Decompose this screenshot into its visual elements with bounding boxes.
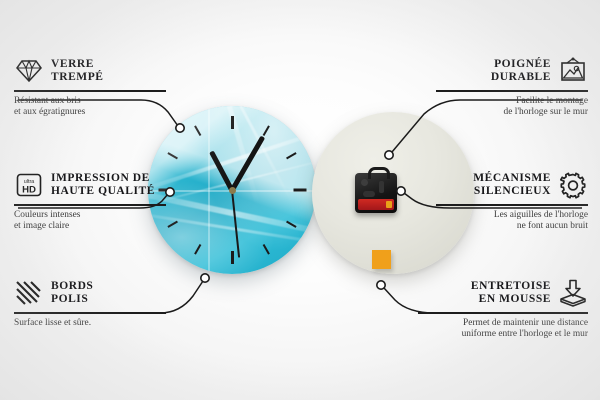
connector-endpoint-verre	[176, 124, 184, 132]
callout-impression-haute-qualite[interactable]: ultra HD IMPRESSION DEHAUTE QUALITÉ Coul…	[14, 170, 166, 233]
svg-text:HD: HD	[22, 185, 36, 196]
callout-rule	[418, 312, 588, 314]
callout-mecanisme-silencieux[interactable]: MÉCANISMESILENCIEUX Les aiguilles de l'h…	[436, 170, 588, 233]
gear-icon	[558, 170, 588, 200]
connector-endpoint-poignee	[385, 151, 393, 159]
connector-endpoint-bords	[201, 274, 209, 282]
callout-rule	[14, 204, 166, 206]
callout-title: ENTRETOISEEN MOUSSE	[471, 280, 551, 307]
callout-title: IMPRESSION DEHAUTE QUALITÉ	[51, 172, 155, 199]
callout-description: Permet de maintenir une distanceuniforme…	[418, 318, 588, 341]
connector-endpoint-entretoise	[377, 281, 385, 289]
connector-endpoint-impression	[166, 188, 174, 196]
connector-endpoint-mecanisme	[397, 187, 405, 195]
callout-bords-polis[interactable]: BORDSPOLIS Surface lisse et sûre.	[14, 278, 166, 329]
callout-title: VERRETREMPÉ	[51, 58, 104, 85]
callout-header: MÉCANISMESILENCIEUX	[436, 170, 588, 200]
callout-rule	[14, 90, 166, 92]
callout-title: POIGNÉEDURABLE	[491, 58, 551, 85]
callout-rule	[14, 312, 166, 314]
infographic-canvas: VERRETREMPÉ Résistant aux briset aux égr…	[0, 0, 600, 400]
ultra-hd-icon: ultra HD	[14, 170, 44, 200]
callout-description: Surface lisse et sûre.	[14, 318, 166, 330]
diagonal-lines-icon	[14, 278, 44, 308]
callout-entretoise-en-mousse[interactable]: ENTRETOISEEN MOUSSE Permet de maintenir …	[418, 278, 588, 341]
callout-title: BORDSPOLIS	[51, 280, 93, 307]
hanging-picture-icon	[558, 56, 588, 86]
callout-title: MÉCANISMESILENCIEUX	[473, 172, 551, 199]
callout-header: POIGNÉEDURABLE	[436, 56, 588, 86]
arrow-down-foam-icon	[558, 278, 588, 308]
callout-poignee-durable[interactable]: POIGNÉEDURABLE Facilite le montagede l'h…	[436, 56, 588, 119]
callout-rule	[436, 90, 588, 92]
callout-description: Les aiguilles de l'horlogene font aucun …	[436, 210, 588, 233]
callout-header: BORDSPOLIS	[14, 278, 166, 308]
callout-rule	[436, 204, 588, 206]
callout-description: Couleurs intenseset image claire	[14, 210, 166, 233]
callout-header: ultra HD IMPRESSION DEHAUTE QUALITÉ	[14, 170, 166, 200]
callout-description: Facilite le montagede l'horloge sur le m…	[436, 96, 588, 119]
callout-header: ENTRETOISEEN MOUSSE	[418, 278, 588, 308]
callout-verre-trempe[interactable]: VERRETREMPÉ Résistant aux briset aux égr…	[14, 56, 166, 119]
callout-header: VERRETREMPÉ	[14, 56, 166, 86]
callout-description: Résistant aux briset aux égratignures	[14, 96, 166, 119]
diamond-icon	[14, 56, 44, 86]
